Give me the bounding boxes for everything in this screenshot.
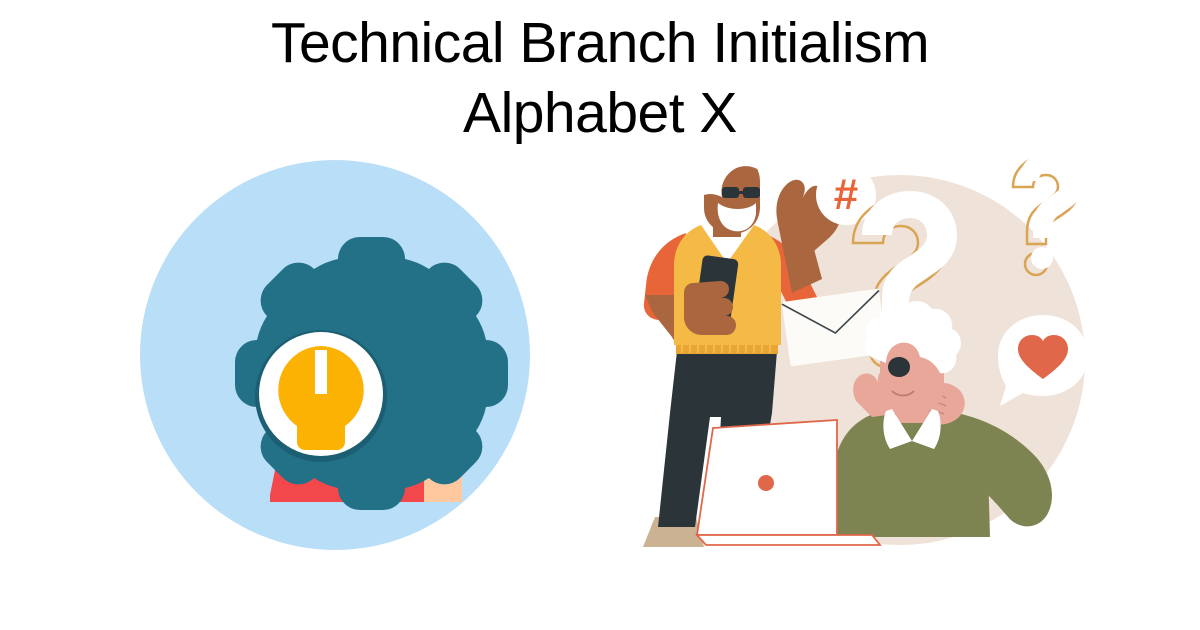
question-mark-small-fill <box>1019 150 1085 238</box>
title-block: Technical Branch Initialism Alphabet X <box>0 8 1200 148</box>
laptop-logo-dot <box>758 475 774 491</box>
laptop-base <box>697 535 880 545</box>
page-root: Technical Branch Initialism Alphabet X <box>0 0 1200 630</box>
left-illustration-svg <box>120 150 560 570</box>
page-title: Technical Branch Initialism Alphabet X <box>0 8 1200 148</box>
wrench-notch <box>315 350 327 394</box>
right-illustration-svg: # <box>600 145 1200 595</box>
hashtag-icon: # <box>834 170 858 219</box>
gear-with-wrench <box>235 237 508 510</box>
seated-woman-eye <box>888 357 910 377</box>
tech-support-agent-gear-illustration <box>120 150 560 570</box>
confused-seniors-technology-illustration: # <box>600 145 1200 595</box>
question-mark-small-dot <box>1031 247 1053 269</box>
standing-man-hand-phone <box>684 281 736 335</box>
